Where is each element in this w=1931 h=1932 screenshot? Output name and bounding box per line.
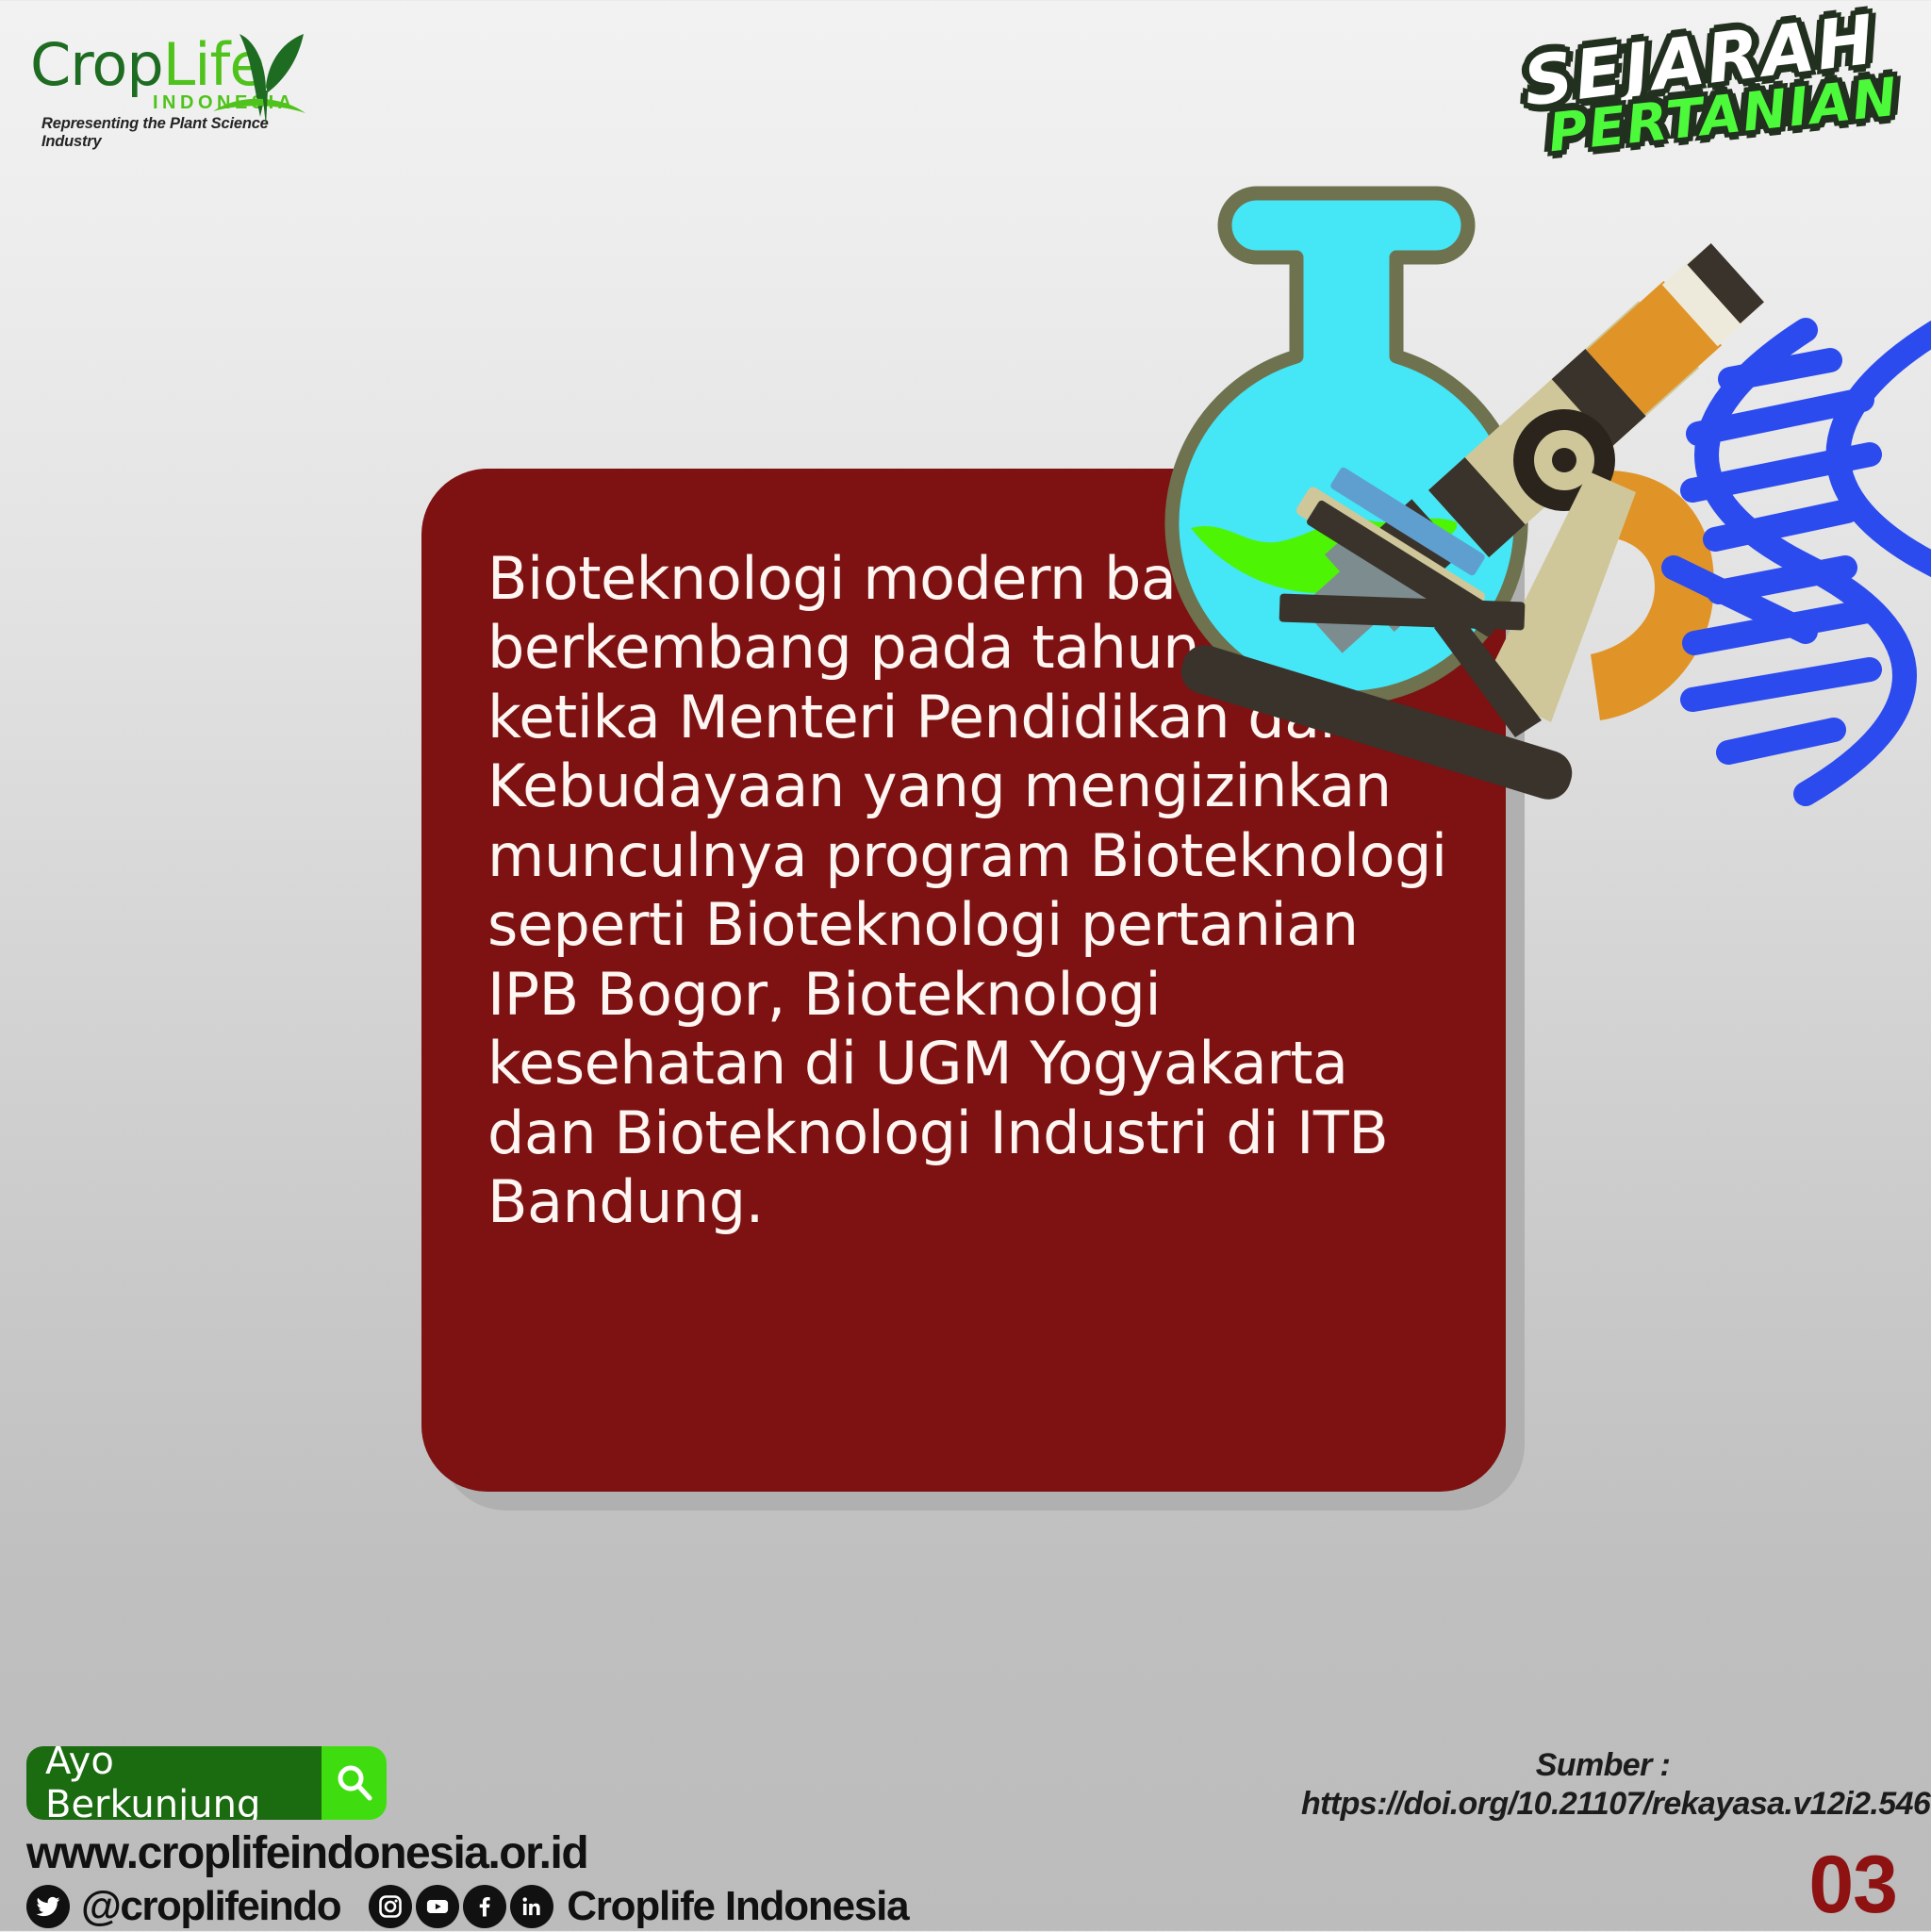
visit-badge[interactable]: Ayo Berkunjung xyxy=(26,1746,387,1820)
linkedin-icon[interactable] xyxy=(510,1885,553,1928)
source-citation: Sumber : https://doi.org/10.21107/rekaya… xyxy=(1301,1746,1905,1825)
social-row: @croplifeindo Crop xyxy=(26,1882,908,1931)
page-number: 03 xyxy=(1808,1839,1897,1932)
poster-canvas: CropLife INDONESIA Representing the Plan… xyxy=(0,0,1931,1931)
search-icon xyxy=(334,1762,375,1804)
seedling-icon xyxy=(206,13,309,126)
social-account-name: Croplife Indonesia xyxy=(567,1883,908,1930)
series-title: SEJARAH PERTANIAN xyxy=(1497,8,1903,158)
visit-badge-search-area[interactable] xyxy=(322,1746,387,1820)
logo-crop-text: Crop xyxy=(30,30,163,99)
biotech-illustration xyxy=(1146,160,1931,811)
visit-badge-label-area: Ayo Berkunjung xyxy=(26,1746,322,1820)
visit-badge-label: Ayo Berkunjung xyxy=(26,1746,322,1820)
facebook-icon[interactable] xyxy=(463,1885,506,1928)
croplife-logo: CropLife INDONESIA Representing the Plan… xyxy=(21,13,304,131)
twitter-handle[interactable]: @croplifeindo xyxy=(81,1883,340,1930)
website-url[interactable]: www.croplifeindonesia.or.id xyxy=(26,1827,587,1879)
twitter-icon[interactable] xyxy=(26,1885,70,1928)
youtube-icon[interactable] xyxy=(416,1885,459,1928)
instagram-icon[interactable] xyxy=(369,1885,412,1928)
